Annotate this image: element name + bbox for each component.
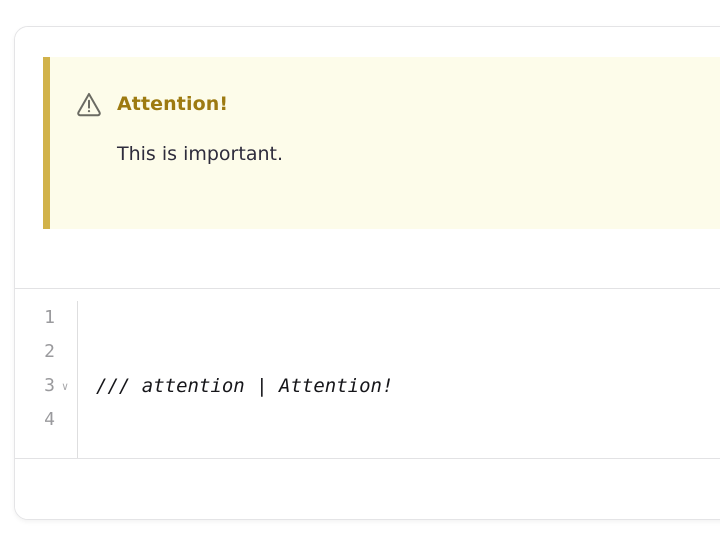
line-number-label: 3 — [44, 375, 55, 396]
admonition-title: Attention! — [117, 95, 228, 114]
line-number-with-fold: 3 ∨ — [15, 369, 77, 403]
preview-card: Attention! This is important. 1 2 3 ∨ 4 … — [14, 26, 720, 520]
preview-pane: Attention! This is important. — [15, 27, 720, 289]
code-line — [96, 471, 720, 505]
code-editor[interactable]: 1 2 3 ∨ 4 /// attention | Attention! Thi… — [15, 289, 720, 459]
warning-triangle-icon — [75, 90, 103, 118]
line-number: 1 — [15, 301, 77, 335]
code-line: /// attention | Attention! — [96, 369, 720, 403]
chevron-down-icon[interactable]: ∨ — [59, 369, 71, 403]
editor-code-area[interactable]: /// attention | Attention! This is impor… — [78, 301, 720, 458]
admonition-body: This is important. — [50, 118, 720, 167]
admonition-attention: Attention! This is important. — [43, 57, 720, 229]
line-number: 2 — [15, 335, 77, 369]
line-number: 4 — [15, 403, 77, 437]
editor-gutter: 1 2 3 ∨ 4 — [15, 301, 78, 458]
admonition-header: Attention! — [50, 57, 720, 118]
